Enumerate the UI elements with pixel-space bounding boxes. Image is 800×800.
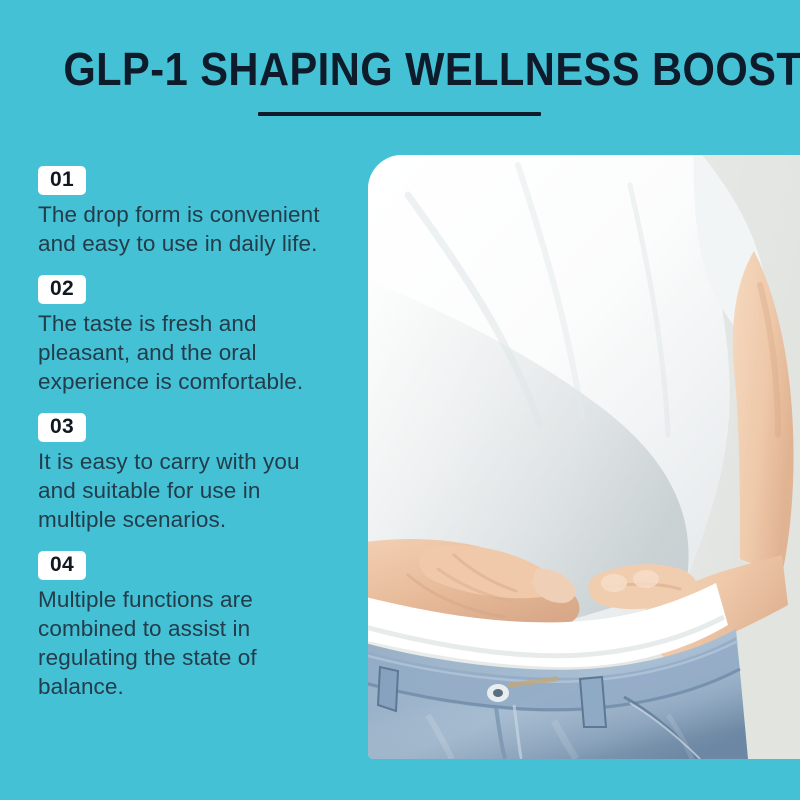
feature-number-badge: 03 xyxy=(38,413,86,442)
feature-description: The taste is fresh and pleasant, and the… xyxy=(38,309,330,396)
title-underline-rule xyxy=(258,112,541,116)
feature-description: The drop form is convenient and easy to … xyxy=(38,200,330,258)
photo-illustration xyxy=(368,155,800,759)
list-item: 03 It is easy to carry with you and suit… xyxy=(38,413,338,534)
feature-list: 01 The drop form is convenient and easy … xyxy=(38,166,338,701)
feature-number-badge: 01 xyxy=(38,166,86,195)
poster-canvas: GLP-1 SHAPING WELLNESS BOOST DROPS 01 Th… xyxy=(0,0,800,800)
title-block: GLP-1 SHAPING WELLNESS BOOST DROPS xyxy=(0,44,800,94)
feature-number-badge: 02 xyxy=(38,275,86,304)
list-item: 01 The drop form is convenient and easy … xyxy=(38,166,338,258)
page-title: GLP-1 SHAPING WELLNESS BOOST DROPS xyxy=(38,44,762,94)
product-photo xyxy=(368,155,800,759)
feature-description: Multiple functions are combined to assis… xyxy=(38,585,330,701)
feature-number-badge: 04 xyxy=(38,551,86,580)
feature-description: It is easy to carry with you and suitabl… xyxy=(38,447,330,534)
list-item: 04 Multiple functions are combined to as… xyxy=(38,551,338,701)
list-item: 02 The taste is fresh and pleasant, and … xyxy=(38,275,338,396)
